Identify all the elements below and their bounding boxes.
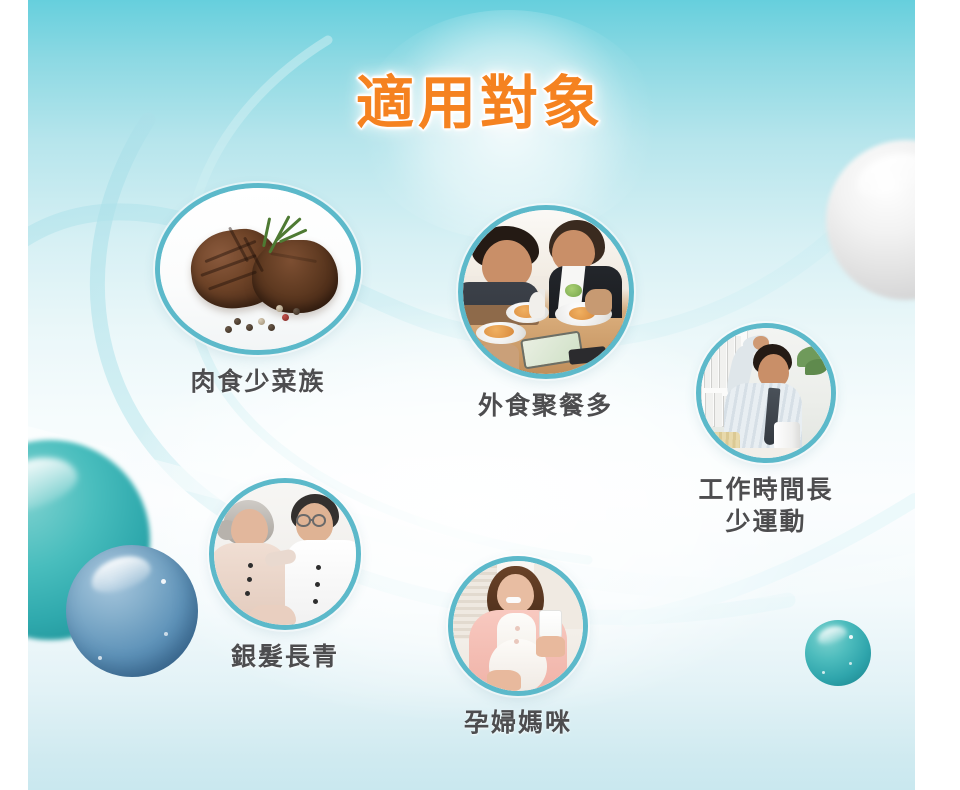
audience-item-long-work-hours[interactable]: 工作時間長 少運動: [676, 323, 856, 538]
sphere-highlight: [851, 146, 915, 205]
audience-item-meat-eater[interactable]: 肉食少菜族: [143, 183, 373, 399]
blue-sphere: [66, 545, 198, 677]
audience-item-eating-out[interactable]: 外食聚餐多: [438, 205, 653, 423]
sphere-highlight-dot: [822, 671, 825, 674]
audience-item-seniors[interactable]: 銀髮長青: [192, 478, 378, 674]
sphere-highlight-dot: [161, 579, 166, 584]
audience-item-label: 銀髮長青: [192, 642, 378, 674]
audience-item-pregnant-mother[interactable]: 孕婦媽咪: [428, 556, 608, 740]
audience-item-label: 工作時間長 少運動: [676, 475, 856, 538]
audience-item-label: 肉食少菜族: [143, 367, 373, 399]
sphere-highlight: [815, 622, 849, 646]
restaurant-dining-couple-photo: [458, 205, 634, 379]
audience-item-label: 孕婦媽咪: [428, 708, 608, 740]
elderly-couple-photo: [209, 478, 361, 630]
sphere-highlight-dot: [849, 662, 852, 665]
sphere-highlight: [28, 447, 83, 521]
poster-canvas: 適用對象: [0, 0, 960, 790]
white-sphere: [826, 140, 915, 300]
grilled-steak-photo: [155, 183, 361, 355]
sphere-highlight-dot: [849, 635, 853, 639]
sphere-highlight: [86, 550, 154, 599]
page-title: 適用對象: [0, 56, 960, 140]
sphere-highlight-dot: [164, 632, 168, 636]
audience-item-label: 外食聚餐多: [438, 391, 653, 423]
small-teal-sphere: [805, 620, 871, 686]
pregnant-woman-milk-photo: [448, 556, 588, 696]
tired-office-worker-photo: [696, 323, 836, 463]
sphere-highlight-dot: [98, 656, 102, 660]
